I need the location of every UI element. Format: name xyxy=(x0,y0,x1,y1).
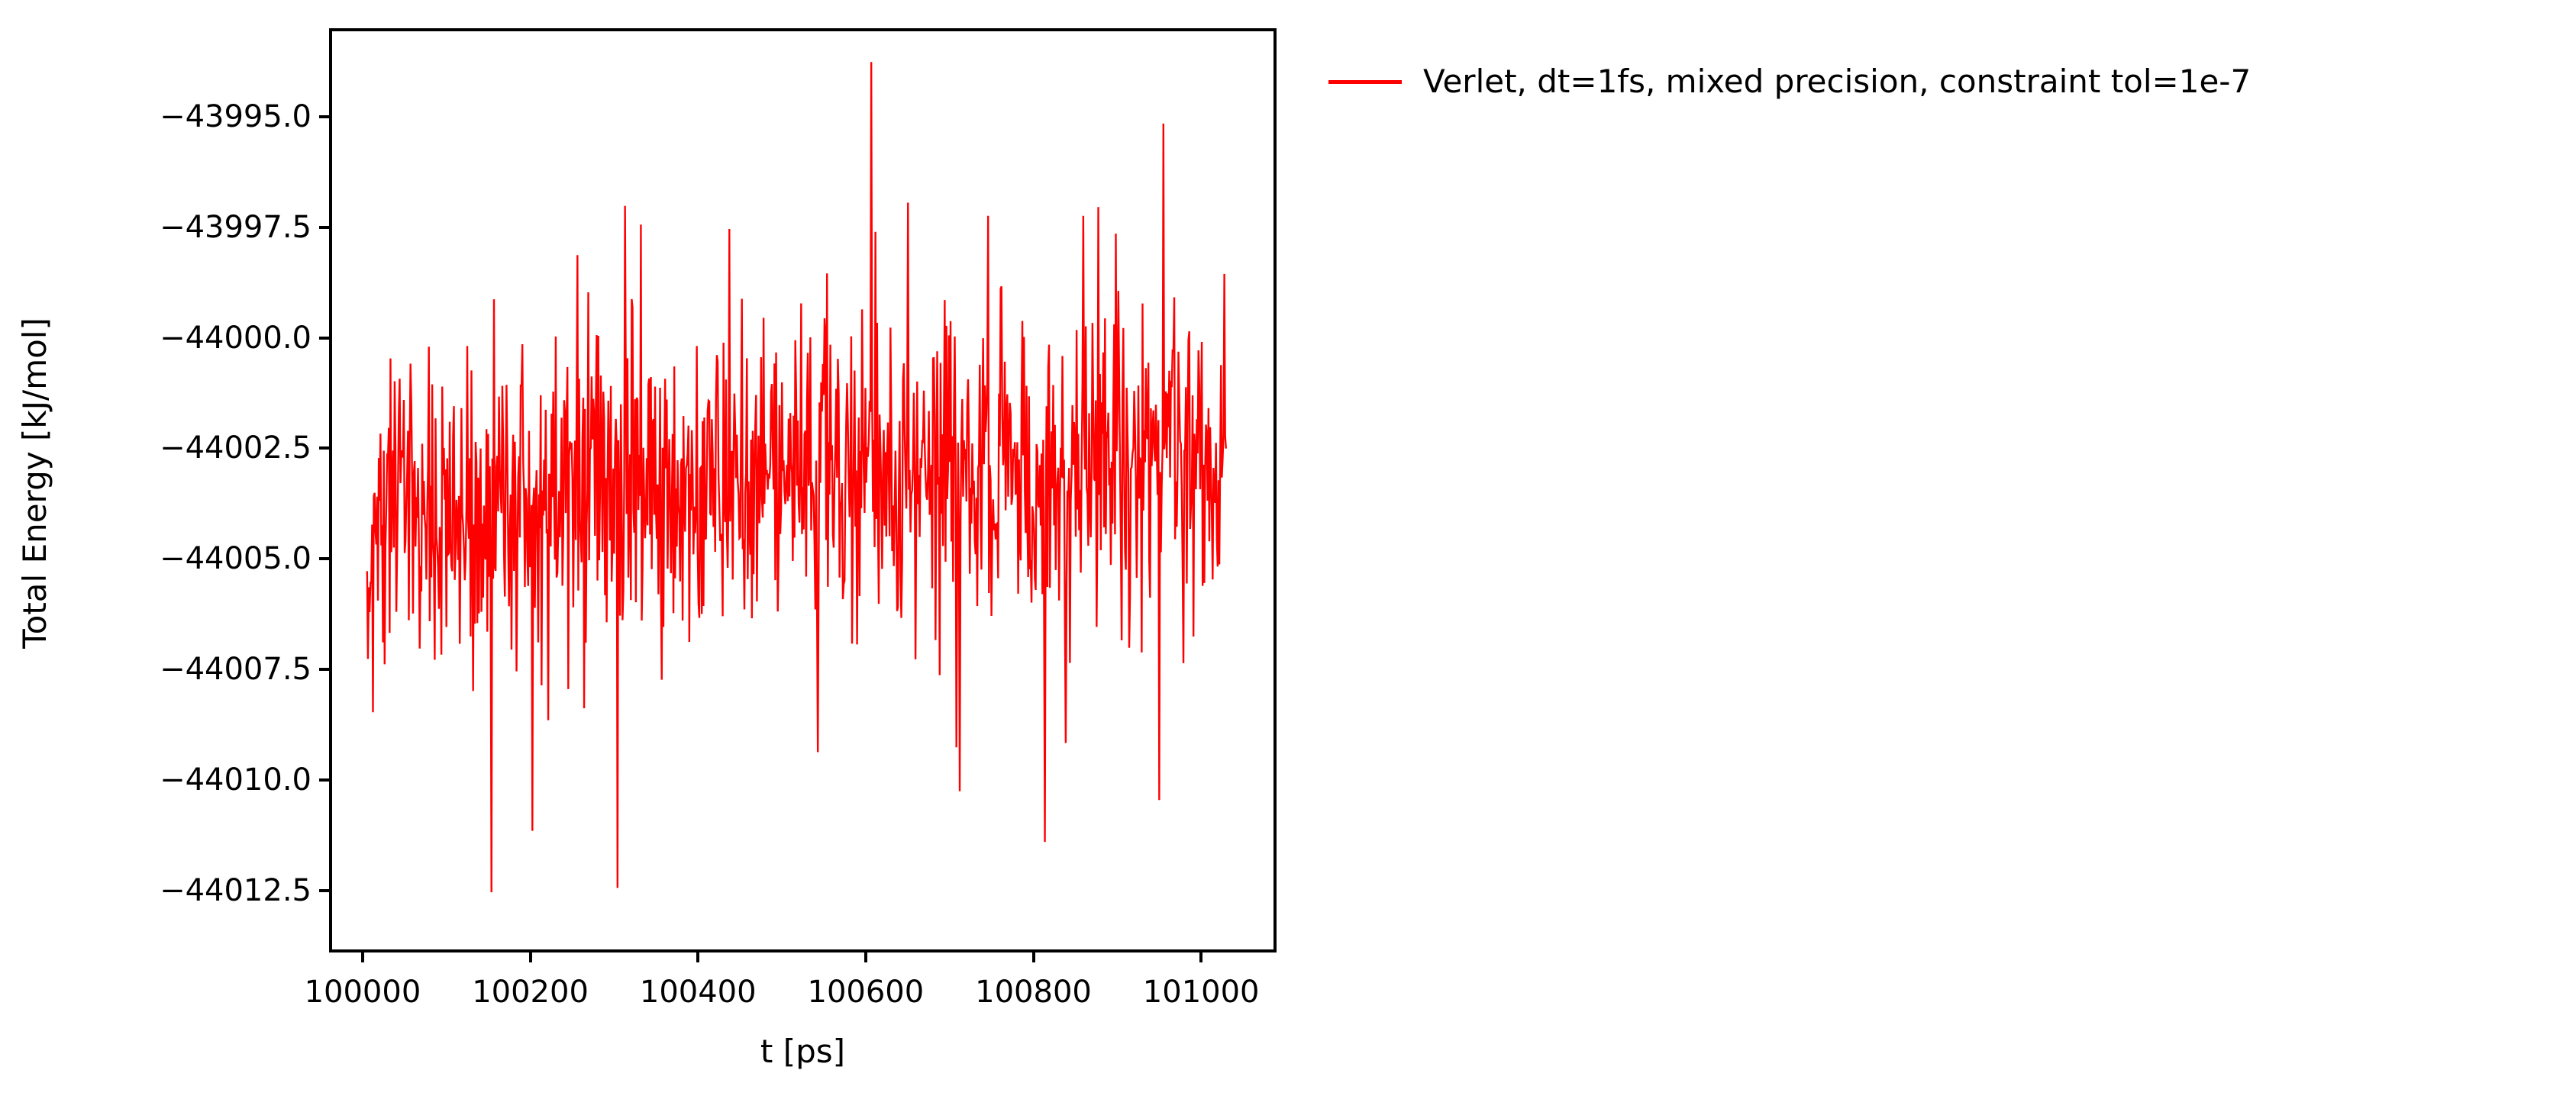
series-line-verlet xyxy=(367,62,1226,892)
legend-entry-label: Verlet, dt=1fs, mixed precision, constra… xyxy=(1423,66,2251,98)
plot-axes-area xyxy=(329,28,1277,952)
y-tick-label: −43997.5 xyxy=(0,212,312,243)
x-tick-mark xyxy=(529,952,532,962)
y-tick-mark xyxy=(319,778,329,782)
legend: Verlet, dt=1fs, mixed precision, constra… xyxy=(1328,66,2251,98)
y-tick-label: −44010.0 xyxy=(0,765,312,795)
x-tick-label: 100600 xyxy=(808,977,925,1007)
x-tick-mark xyxy=(1032,952,1035,962)
y-tick-mark xyxy=(319,446,329,450)
x-tick-mark xyxy=(696,952,699,962)
y-tick-mark xyxy=(319,115,329,118)
x-tick-label: 100200 xyxy=(472,977,589,1007)
x-axis-label: t [ps] xyxy=(329,1036,1277,1068)
figure-canvas: Total Energy [kJ/mol] −43995.0−43997.5−4… xyxy=(0,0,2576,1112)
x-tick-mark xyxy=(361,952,364,962)
y-tick-label: −44005.0 xyxy=(0,543,312,574)
y-tick-label: −44002.5 xyxy=(0,433,312,463)
y-tick-label: −43995.0 xyxy=(0,102,312,132)
x-tick-label: 101000 xyxy=(1143,977,1260,1007)
legend-line-sample-icon xyxy=(1328,80,1402,84)
y-tick-label: −44007.5 xyxy=(0,654,312,685)
y-tick-label: −44000.0 xyxy=(0,323,312,353)
y-tick-mark xyxy=(319,557,329,560)
y-tick-mark xyxy=(319,226,329,229)
energy-trace-svg xyxy=(332,31,1273,949)
x-tick-mark xyxy=(864,952,867,962)
y-tick-mark xyxy=(319,337,329,340)
x-tick-label: 100800 xyxy=(975,977,1092,1007)
y-tick-mark xyxy=(319,889,329,892)
y-tick-label: −44012.5 xyxy=(0,875,312,906)
x-tick-mark xyxy=(1199,952,1202,962)
x-tick-label: 100400 xyxy=(640,977,757,1007)
x-tick-label: 100000 xyxy=(305,977,421,1007)
y-tick-mark xyxy=(319,668,329,671)
